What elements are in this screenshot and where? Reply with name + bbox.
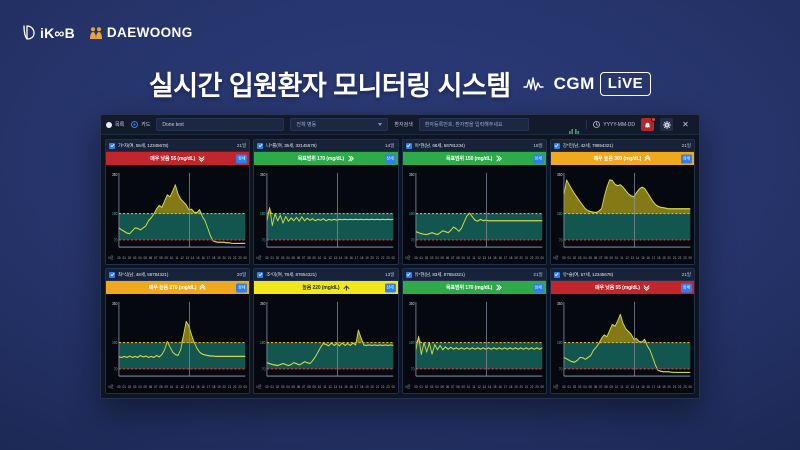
- svg-text:20: 20: [223, 255, 226, 259]
- svg-text:23: 23: [387, 384, 390, 388]
- svg-text:13: 13: [631, 384, 634, 388]
- svg-text:21: 21: [376, 255, 379, 259]
- close-button[interactable]: ✕: [679, 118, 692, 131]
- svg-text:10: 10: [615, 384, 618, 388]
- svg-text:20: 20: [519, 384, 522, 388]
- svg-text:17: 17: [652, 255, 655, 259]
- double-down-arrow-icon: [643, 284, 650, 291]
- svg-text:10: 10: [170, 255, 173, 259]
- radio-dot-card: [131, 121, 138, 128]
- patient-card-header: 이*현(남, 68세, 56781234)18일: [403, 140, 546, 152]
- svg-text:14: 14: [191, 255, 194, 259]
- patient-card[interactable]: 유*슬(여, 57세, 12345678)21일매우 낮음 55 (mg/dL)…: [550, 268, 695, 394]
- svg-text:16: 16: [350, 255, 353, 259]
- svg-text:02: 02: [573, 384, 576, 388]
- svg-text:19: 19: [366, 255, 369, 259]
- ecg-wave-icon: [523, 75, 549, 93]
- daewoong-figures-icon: [89, 26, 103, 40]
- view-mode-radio-group[interactable]: 목록 카드: [106, 121, 150, 128]
- svg-text:22: 22: [381, 255, 384, 259]
- patient-name: 강*민(남, 42세, 78654321): [563, 143, 679, 149]
- patient-checkbox[interactable]: [109, 272, 115, 278]
- glucose-chart[interactable]: 35018070시간000102030405060708091011121314…: [551, 165, 694, 264]
- patient-checkbox[interactable]: [554, 272, 560, 278]
- brand-ikoob: iK∞B: [22, 24, 75, 41]
- svg-text:13: 13: [334, 384, 337, 388]
- svg-text:08: 08: [159, 255, 162, 259]
- svg-text:01: 01: [271, 384, 274, 388]
- clock-icon: [593, 121, 600, 128]
- patient-card[interactable]: 가*자(여, 55세, 12345678)21일매우 낮음 55 (mg/dL)…: [105, 139, 250, 265]
- radio-label-card: 카드: [141, 121, 150, 128]
- svg-text:11: 11: [324, 384, 327, 388]
- svg-text:07: 07: [302, 384, 305, 388]
- svg-text:09: 09: [313, 255, 316, 259]
- svg-text:05: 05: [588, 255, 591, 259]
- hero-header: 실시간 입원환자 모니터링 시스템 CGM LiVE: [0, 64, 800, 103]
- glucose-chart[interactable]: 35018070시간000102030405060708091011121314…: [403, 294, 546, 393]
- patient-days: 13일: [385, 272, 394, 278]
- svg-text:22: 22: [233, 384, 236, 388]
- radio-list-view[interactable]: 목록: [106, 121, 124, 128]
- svg-text:70: 70: [559, 238, 563, 242]
- live-badge: LiVE: [600, 72, 651, 96]
- detail-button[interactable]: 상세: [681, 154, 692, 163]
- alert-bell-icon: [644, 116, 651, 134]
- svg-text:350: 350: [557, 302, 562, 306]
- svg-text:09: 09: [313, 384, 316, 388]
- patient-card[interactable]: 이*현(남, 68세, 56781234)18일목표범위 150 (mg/dL)…: [402, 139, 547, 265]
- patient-search-label: 환자검색: [394, 121, 412, 128]
- svg-text:11: 11: [620, 255, 623, 259]
- status-label: 매우 낮음 55 (mg/dL): [595, 284, 650, 291]
- patient-checkbox[interactable]: [406, 272, 412, 278]
- svg-text:350: 350: [408, 173, 413, 177]
- svg-text:180: 180: [408, 341, 413, 345]
- svg-text:05: 05: [144, 384, 147, 388]
- glucose-chart[interactable]: 35018070시간000102030405060708091011121314…: [403, 165, 546, 264]
- svg-text:13: 13: [186, 384, 189, 388]
- status-badge: 목표범위 170 (mg/dL)상세: [254, 152, 397, 165]
- close-icon: ✕: [682, 121, 689, 129]
- patient-checkbox[interactable]: [257, 143, 263, 149]
- svg-text:13: 13: [482, 255, 485, 259]
- svg-text:06: 06: [297, 384, 300, 388]
- done-text-input[interactable]: Done text: [156, 118, 284, 131]
- svg-text:00: 00: [562, 255, 565, 259]
- svg-text:시간: 시간: [553, 383, 559, 389]
- svg-text:70: 70: [262, 238, 266, 242]
- patient-name: 유*현(남, 83세, 87654321): [415, 272, 531, 278]
- svg-text:16: 16: [498, 384, 501, 388]
- svg-text:23: 23: [535, 255, 538, 259]
- svg-text:07: 07: [599, 255, 602, 259]
- svg-text:20: 20: [371, 384, 374, 388]
- svg-text:12: 12: [180, 384, 183, 388]
- svg-text:01: 01: [419, 255, 422, 259]
- svg-text:23: 23: [683, 255, 686, 259]
- svg-text:14: 14: [636, 384, 639, 388]
- patient-card[interactable]: 나*률(여, 35세, 32145678)14일목표범위 170 (mg/dL)…: [253, 139, 398, 265]
- svg-text:350: 350: [260, 173, 265, 177]
- svg-text:11: 11: [175, 255, 178, 259]
- page-title: 실시간 입원환자 모니터링 시스템: [149, 64, 511, 103]
- svg-text:21: 21: [376, 384, 379, 388]
- svg-text:04: 04: [583, 384, 586, 388]
- patient-days: 21일: [682, 272, 691, 278]
- svg-text:03: 03: [133, 255, 136, 259]
- date-value: YYYY-MM-DD: [603, 122, 635, 128]
- detail-button[interactable]: 상세: [385, 154, 396, 163]
- svg-text:04: 04: [435, 384, 438, 388]
- detail-button[interactable]: 상세: [681, 283, 692, 292]
- patient-name: 나*률(여, 35세, 32145678): [266, 143, 382, 149]
- svg-text:09: 09: [165, 384, 168, 388]
- svg-text:08: 08: [308, 255, 311, 259]
- svg-text:21: 21: [228, 255, 231, 259]
- status-label: 목표범위 150 (mg/dL): [446, 155, 502, 162]
- svg-text:05: 05: [144, 255, 147, 259]
- cgm-wordmark: CGM: [554, 74, 595, 94]
- patient-days: 21일: [682, 143, 691, 149]
- svg-text:14: 14: [636, 255, 639, 259]
- status-value: 매우 낮음 55 (mg/dL): [595, 284, 640, 291]
- svg-text:70: 70: [262, 367, 266, 371]
- detail-button[interactable]: 상세: [533, 283, 544, 292]
- svg-text:06: 06: [149, 384, 152, 388]
- svg-text:시간: 시간: [404, 383, 410, 389]
- svg-text:18: 18: [657, 384, 660, 388]
- patient-name: 조*미(여, 78세, 87654321): [266, 272, 382, 278]
- svg-text:14: 14: [339, 384, 342, 388]
- svg-text:14: 14: [488, 384, 491, 388]
- svg-text:11: 11: [620, 384, 623, 388]
- patient-name: 최*식(남, 48세, 56784321): [118, 272, 234, 278]
- svg-text:02: 02: [424, 384, 427, 388]
- svg-text:04: 04: [583, 255, 586, 259]
- patient-card[interactable]: 조*미(여, 78세, 87654321)13일높음 220 (mg/dL)상세…: [253, 268, 398, 394]
- patient-days: 14일: [385, 143, 394, 149]
- svg-text:05: 05: [588, 384, 591, 388]
- svg-text:03: 03: [430, 384, 433, 388]
- svg-text:23: 23: [238, 255, 241, 259]
- toolbar-divider: [586, 120, 587, 129]
- toolbar-right-group: YYYY-MM-DD ✕: [569, 118, 694, 131]
- svg-text:16: 16: [202, 255, 205, 259]
- svg-text:06: 06: [445, 384, 448, 388]
- svg-text:12: 12: [625, 384, 628, 388]
- svg-text:03: 03: [281, 384, 284, 388]
- svg-text:08: 08: [159, 384, 162, 388]
- detail-button[interactable]: 상세: [236, 154, 247, 163]
- svg-text:03: 03: [133, 384, 136, 388]
- svg-text:01: 01: [419, 384, 422, 388]
- alert-button[interactable]: [641, 118, 654, 131]
- svg-text:21: 21: [673, 384, 676, 388]
- svg-text:22: 22: [530, 255, 533, 259]
- status-value: 목표범위 150 (mg/dL): [446, 155, 492, 162]
- svg-text:22: 22: [381, 384, 384, 388]
- svg-text:02: 02: [276, 255, 279, 259]
- svg-text:07: 07: [302, 255, 305, 259]
- svg-text:18: 18: [212, 384, 215, 388]
- status-value: 높음 220 (mg/dL): [302, 284, 339, 291]
- svg-text:02: 02: [128, 255, 131, 259]
- svg-text:350: 350: [112, 302, 117, 306]
- svg-text:18: 18: [360, 384, 363, 388]
- svg-text:10: 10: [318, 255, 321, 259]
- svg-text:20: 20: [667, 255, 670, 259]
- patient-card[interactable]: 최*식(남, 48세, 56784321)20일매우 높음 270 (mg/dL…: [105, 268, 250, 394]
- svg-text:10: 10: [170, 384, 173, 388]
- ikoob-leaf-icon: [22, 24, 37, 41]
- patient-name: 이*현(남, 68세, 56781234): [415, 143, 531, 149]
- svg-text:00: 00: [688, 384, 691, 388]
- signal-bars-icon: [569, 121, 580, 129]
- patient-days: 21일: [533, 272, 542, 278]
- patient-card-header: 강*민(남, 42세, 78654321)21일: [551, 140, 694, 152]
- svg-text:00: 00: [117, 255, 120, 259]
- patient-checkbox[interactable]: [257, 272, 263, 278]
- status-badge: 높음 220 (mg/dL)상세: [254, 281, 397, 294]
- svg-text:11: 11: [472, 255, 475, 259]
- svg-text:16: 16: [202, 384, 205, 388]
- svg-text:15: 15: [493, 255, 496, 259]
- status-badge: 매우 낮음 55 (mg/dL)상세: [551, 281, 694, 294]
- radio-card-view[interactable]: 카드: [131, 121, 150, 128]
- svg-text:06: 06: [594, 384, 597, 388]
- svg-text:00: 00: [266, 384, 269, 388]
- svg-text:12: 12: [180, 255, 183, 259]
- patient-card[interactable]: 강*민(남, 42세, 78654321)21일매우 높음 300 (mg/dL…: [550, 139, 695, 265]
- svg-text:05: 05: [440, 384, 443, 388]
- detail-button[interactable]: 상세: [533, 154, 544, 163]
- svg-text:180: 180: [112, 212, 117, 216]
- svg-text:02: 02: [276, 384, 279, 388]
- svg-text:09: 09: [461, 255, 464, 259]
- svg-text:19: 19: [662, 384, 665, 388]
- svg-text:350: 350: [112, 173, 117, 177]
- svg-text:13: 13: [631, 255, 634, 259]
- status-label: 높음 220 (mg/dL): [302, 284, 349, 291]
- daewoong-wordmark: DAEWOONG: [107, 25, 193, 40]
- svg-text:15: 15: [493, 384, 496, 388]
- svg-text:시간: 시간: [108, 383, 114, 389]
- svg-text:180: 180: [557, 212, 562, 216]
- svg-text:20: 20: [519, 255, 522, 259]
- svg-text:21: 21: [228, 384, 231, 388]
- svg-text:02: 02: [573, 255, 576, 259]
- svg-text:12: 12: [477, 255, 480, 259]
- double-down-arrow-icon: [198, 155, 205, 162]
- svg-text:17: 17: [355, 384, 358, 388]
- svg-text:05: 05: [292, 384, 295, 388]
- brand-row: iK∞B DAEWOONG: [22, 24, 193, 41]
- status-value: 매우 낮음 55 (mg/dL): [150, 155, 195, 162]
- screenshot-root: iK∞B DAEWOONG 실시간 입원환자 모니터링 시스템 CGM LiVE…: [0, 0, 800, 450]
- status-badge: 매우 높음 270 (mg/dL)상세: [106, 281, 249, 294]
- patient-checkbox[interactable]: [109, 143, 115, 149]
- svg-text:01: 01: [567, 384, 570, 388]
- svg-text:08: 08: [456, 255, 459, 259]
- status-label: 매우 낮음 55 (mg/dL): [150, 155, 205, 162]
- patient-search-input[interactable]: 환자등록번호, 환자명을 입력해주세요: [419, 118, 529, 131]
- svg-text:19: 19: [217, 384, 220, 388]
- glucose-chart[interactable]: 35018070시간000102030405060708091011121314…: [106, 294, 249, 393]
- svg-text:350: 350: [260, 302, 265, 306]
- detail-button[interactable]: 상세: [385, 283, 396, 292]
- svg-text:19: 19: [366, 384, 369, 388]
- app-window: 목록 카드 Done text 전체 병동 환자검색 환자등록번호, 환자명을 …: [100, 114, 700, 399]
- svg-text:21: 21: [524, 255, 527, 259]
- svg-text:09: 09: [609, 255, 612, 259]
- svg-text:01: 01: [123, 384, 126, 388]
- patient-card-header: 조*미(여, 78세, 87654321)13일: [254, 269, 397, 281]
- status-label: 매우 높음 300 (mg/dL): [594, 155, 652, 162]
- svg-text:17: 17: [503, 384, 506, 388]
- svg-text:05: 05: [440, 255, 443, 259]
- alert-badge: [651, 117, 656, 122]
- patient-card-header: 유*슬(여, 57세, 12345678)21일: [551, 269, 694, 281]
- chevron-down-icon: [378, 123, 382, 126]
- svg-text:03: 03: [430, 255, 433, 259]
- detail-button[interactable]: 상세: [236, 283, 247, 292]
- svg-text:70: 70: [410, 238, 414, 242]
- glucose-chart[interactable]: 35018070시간000102030405060708091011121314…: [254, 294, 397, 393]
- ward-select-value: 전체 병동: [296, 121, 316, 128]
- svg-text:02: 02: [128, 384, 131, 388]
- date-display: YYYY-MM-DD: [593, 121, 635, 128]
- patient-checkbox[interactable]: [554, 143, 560, 149]
- svg-text:14: 14: [339, 255, 342, 259]
- svg-text:11: 11: [175, 384, 178, 388]
- svg-text:09: 09: [165, 255, 168, 259]
- svg-text:05: 05: [292, 255, 295, 259]
- glucose-chart[interactable]: 35018070시간000102030405060708091011121314…: [551, 294, 694, 393]
- svg-text:07: 07: [451, 384, 454, 388]
- svg-text:20: 20: [667, 384, 670, 388]
- svg-text:17: 17: [207, 255, 210, 259]
- settings-button[interactable]: [660, 118, 673, 131]
- double-right-arrow-icon: [347, 155, 354, 162]
- svg-text:00: 00: [540, 384, 543, 388]
- svg-text:00: 00: [266, 255, 269, 259]
- double-up-arrow-icon: [644, 155, 651, 162]
- svg-text:17: 17: [503, 255, 506, 259]
- svg-text:00: 00: [688, 255, 691, 259]
- svg-text:04: 04: [138, 384, 141, 388]
- double-right-arrow-icon: [495, 155, 502, 162]
- svg-text:21: 21: [673, 255, 676, 259]
- svg-text:00: 00: [414, 384, 417, 388]
- patient-days: 18일: [533, 143, 542, 149]
- svg-text:180: 180: [557, 341, 562, 345]
- patient-card[interactable]: 유*현(남, 83세, 87654321)21일목표범위 170 (mg/dL)…: [402, 268, 547, 394]
- svg-text:350: 350: [408, 302, 413, 306]
- svg-text:00: 00: [244, 255, 247, 259]
- svg-text:17: 17: [207, 384, 210, 388]
- svg-text:13: 13: [186, 255, 189, 259]
- svg-text:07: 07: [154, 255, 157, 259]
- status-badge: 목표범위 150 (mg/dL)상세: [403, 152, 546, 165]
- svg-text:18: 18: [360, 255, 363, 259]
- svg-text:22: 22: [678, 384, 681, 388]
- svg-text:180: 180: [408, 212, 413, 216]
- svg-text:08: 08: [604, 384, 607, 388]
- svg-text:17: 17: [355, 255, 358, 259]
- svg-text:시간: 시간: [108, 254, 114, 260]
- status-value: 목표범위 170 (mg/dL): [446, 284, 492, 291]
- svg-text:08: 08: [604, 255, 607, 259]
- svg-text:19: 19: [514, 255, 517, 259]
- patient-days: 21일: [237, 143, 246, 149]
- patient-card-header: 나*률(여, 35세, 32145678)14일: [254, 140, 397, 152]
- ward-select[interactable]: 전체 병동: [290, 118, 388, 131]
- svg-text:17: 17: [652, 384, 655, 388]
- svg-text:12: 12: [329, 384, 332, 388]
- svg-text:00: 00: [117, 384, 120, 388]
- svg-text:23: 23: [535, 384, 538, 388]
- svg-text:23: 23: [683, 384, 686, 388]
- svg-text:18: 18: [509, 255, 512, 259]
- svg-text:11: 11: [324, 255, 327, 259]
- radio-label-list: 목록: [115, 121, 124, 128]
- svg-text:01: 01: [123, 255, 126, 259]
- gear-icon: [663, 116, 671, 134]
- svg-text:03: 03: [578, 384, 581, 388]
- svg-text:04: 04: [287, 255, 290, 259]
- svg-text:16: 16: [350, 384, 353, 388]
- svg-text:09: 09: [609, 384, 612, 388]
- svg-text:12: 12: [477, 384, 480, 388]
- svg-text:시간: 시간: [256, 254, 262, 260]
- toolbar: 목록 카드 Done text 전체 병동 환자검색 환자등록번호, 환자명을 …: [101, 115, 699, 135]
- svg-text:06: 06: [149, 255, 152, 259]
- svg-text:시간: 시간: [404, 254, 410, 260]
- svg-text:00: 00: [392, 384, 395, 388]
- svg-text:70: 70: [410, 367, 414, 371]
- svg-text:180: 180: [260, 341, 265, 345]
- svg-text:04: 04: [287, 384, 290, 388]
- svg-text:04: 04: [435, 255, 438, 259]
- patient-checkbox[interactable]: [406, 143, 412, 149]
- svg-text:12: 12: [625, 255, 628, 259]
- svg-text:06: 06: [297, 255, 300, 259]
- svg-text:15: 15: [196, 255, 199, 259]
- svg-text:16: 16: [646, 384, 649, 388]
- glucose-chart[interactable]: 35018070시간000102030405060708091011121314…: [254, 165, 397, 264]
- svg-text:06: 06: [594, 255, 597, 259]
- svg-text:70: 70: [114, 367, 118, 371]
- svg-text:10: 10: [318, 384, 321, 388]
- patient-card-header: 가*자(여, 55세, 12345678)21일: [106, 140, 249, 152]
- svg-text:10: 10: [466, 384, 469, 388]
- svg-text:19: 19: [217, 255, 220, 259]
- glucose-chart[interactable]: 35018070시간000102030405060708091011121314…: [106, 165, 249, 264]
- svg-text:15: 15: [345, 255, 348, 259]
- svg-text:시간: 시간: [256, 383, 262, 389]
- svg-text:13: 13: [334, 255, 337, 259]
- svg-text:07: 07: [599, 384, 602, 388]
- svg-text:23: 23: [387, 255, 390, 259]
- double-right-arrow-icon: [495, 284, 502, 291]
- svg-text:20: 20: [223, 384, 226, 388]
- svg-text:15: 15: [345, 384, 348, 388]
- svg-text:10: 10: [466, 255, 469, 259]
- svg-text:16: 16: [646, 255, 649, 259]
- svg-text:21: 21: [524, 384, 527, 388]
- svg-text:15: 15: [641, 384, 644, 388]
